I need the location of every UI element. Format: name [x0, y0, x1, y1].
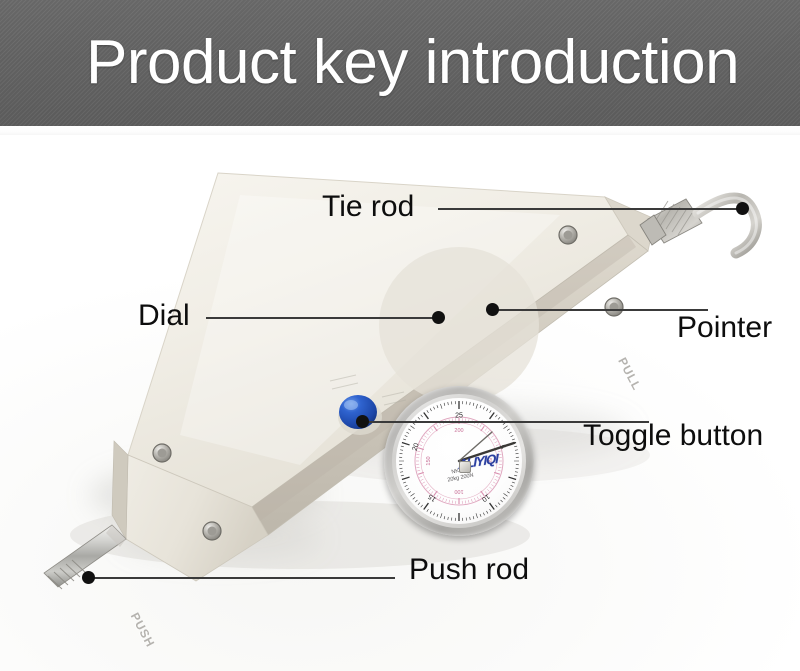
callout-label-dial: Dial [138, 299, 190, 333]
leader-line-dial [206, 317, 438, 319]
svg-text:15: 15 [427, 492, 438, 502]
callout-label-toggle-button: Toggle button [583, 419, 763, 453]
leader-dot-tie-rod [736, 202, 749, 215]
leader-line-tie-rod [438, 208, 740, 210]
svg-text:25: 25 [455, 413, 463, 420]
callout-label-pointer: Pointer [677, 311, 772, 345]
needle-hub [459, 461, 471, 473]
svg-text:200: 200 [454, 428, 463, 434]
callout-label-tie-rod: Tie rod [322, 190, 414, 224]
gauge-dial: 510152025 50100150200 NK-20 20kg 200N AL… [384, 386, 534, 536]
svg-text:150: 150 [426, 456, 432, 465]
leader-line-push-rod [88, 577, 395, 579]
svg-text:100: 100 [454, 488, 463, 494]
leader-dot-toggle-button [356, 415, 369, 428]
callout-label-push-rod: Push rod [409, 553, 529, 587]
leader-line-pointer [493, 309, 708, 311]
page-title: Product key introduction [86, 18, 786, 108]
header-divider [0, 126, 800, 135]
leader-dot-push-rod [82, 571, 95, 584]
svg-text:10: 10 [480, 492, 491, 502]
screenshot-root: Product key introduction [0, 0, 800, 671]
header-banner: Product key introduction [0, 0, 800, 126]
gauge-dial-face: 510152025 50100150200 NK-20 20kg 200N AL… [396, 398, 522, 524]
leader-dot-dial [432, 311, 445, 324]
leader-dot-pointer [486, 303, 499, 316]
svg-text:20: 20 [412, 442, 421, 452]
